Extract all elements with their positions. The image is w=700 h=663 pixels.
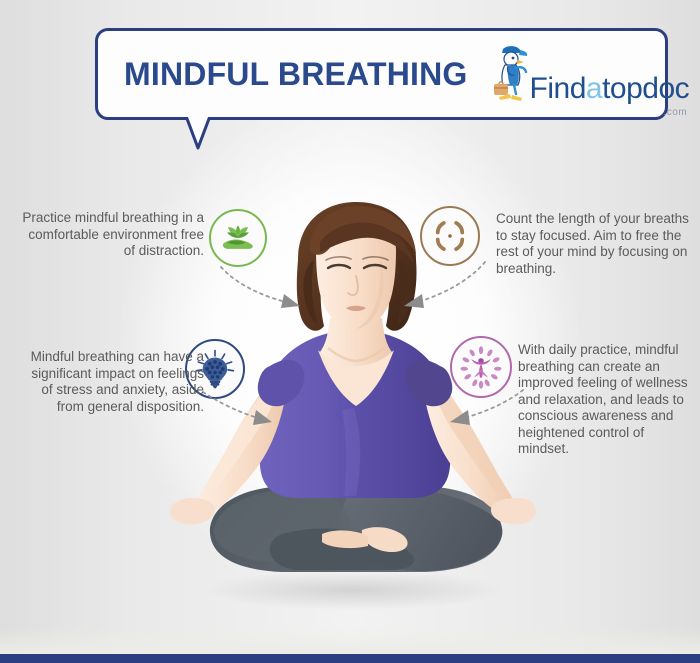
- page-title: MINDFUL BREATHING: [124, 56, 468, 93]
- arrow-bottom-left-to-figure: [200, 388, 286, 432]
- arrow-bottom-right-to-figure: [436, 386, 526, 434]
- title-speech-bubble: MINDFUL BREATHING: [95, 28, 668, 120]
- doctor-bird-icon: [490, 42, 534, 106]
- logo-name: Findatopdoc: [530, 74, 690, 104]
- logo-wordmark: Findatopdoc .com: [530, 74, 690, 106]
- infographic-canvas: MINDFUL BREATHING: [0, 0, 700, 663]
- logo-name-highlight: a: [586, 72, 602, 105]
- logo-name-part2: topdoc: [602, 72, 689, 105]
- callout-top-left-text: Practice mindful breathing in a comforta…: [14, 210, 204, 260]
- callout-top-right-text: Count the length of your breaths to stay…: [496, 211, 692, 277]
- callout-bottom-right-text: With daily practice, mindful breathing c…: [518, 342, 690, 458]
- arrow-top-right-to-figure: [392, 258, 488, 314]
- bottom-fade: [0, 628, 700, 654]
- arrow-top-left-to-figure: [218, 262, 308, 312]
- callout-bottom-left-text: Mindful breathing can have a significant…: [18, 349, 204, 415]
- breath-flow-icon: [420, 206, 480, 266]
- bottom-accent-bar: [0, 654, 700, 663]
- findatopdoc-logo[interactable]: Findatopdoc .com: [490, 42, 690, 106]
- hand-holding-leaf-icon: [209, 209, 267, 267]
- speech-bubble-tail: [160, 114, 240, 154]
- logo-suffix: .com: [663, 107, 687, 118]
- logo-name-part1: Find: [530, 72, 586, 105]
